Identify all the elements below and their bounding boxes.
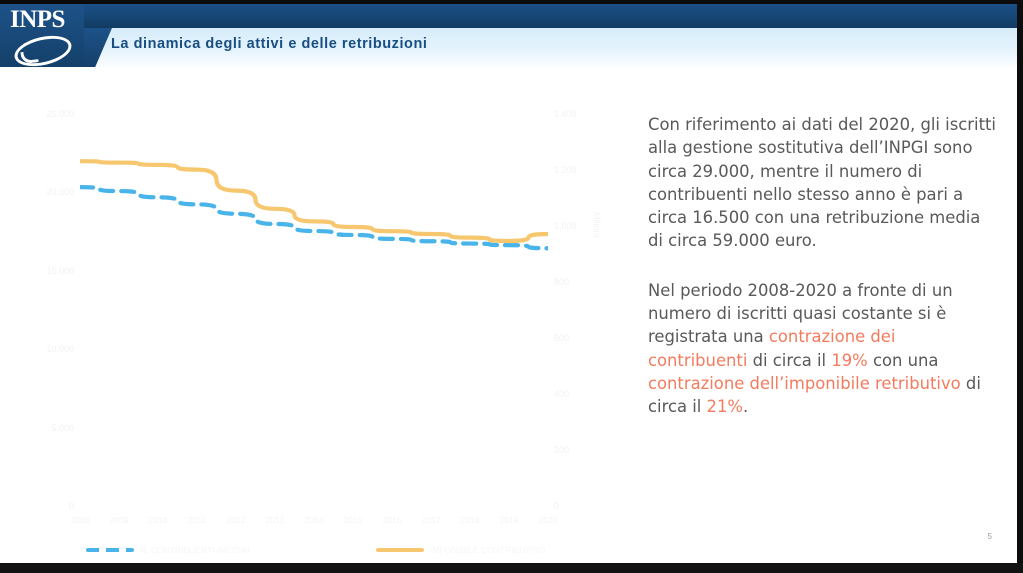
x-axis-tick: 2008 <box>71 515 90 525</box>
x-axis-tick: 2017 <box>422 515 441 525</box>
x-axis-tick: 2014 <box>305 515 324 525</box>
x-axis-tick: 2019 <box>500 515 519 525</box>
chart-plot-area <box>80 115 548 507</box>
inps-ellipse-icon <box>12 31 75 67</box>
video-letterbox-right <box>1017 0 1023 573</box>
legend-item-contribuenti: N. CONTRIBUENTI (MEDIA) <box>86 545 250 555</box>
legend-label-imponibile: IMPONIBILE CONTRIBUTIVO <box>430 545 545 555</box>
highlighted-text: contrazione dell’imponibile retributivo <box>648 374 961 393</box>
y-axis-left-tick: 10.000 <box>26 344 74 354</box>
y-axis-left-tick: 5.000 <box>26 423 74 433</box>
inps-wordmark: INPS <box>10 7 65 32</box>
y-axis-left-tick: 20.000 <box>26 187 74 197</box>
x-axis-tick: 2020 <box>539 515 558 525</box>
body-text: di circa il <box>747 351 831 370</box>
x-axis-tick: 2012 <box>227 515 246 525</box>
x-axis-tick: 2010 <box>149 515 168 525</box>
chart-container: 25.00020.00015.00010.0005.0000 1.4001.20… <box>14 97 614 537</box>
y-axis-right-tick: 1.400 <box>554 109 596 119</box>
page-title: La dinamica degli attivi e delle retribu… <box>111 36 427 52</box>
x-axis-tick: 2016 <box>383 515 402 525</box>
legend-dashed-line-icon <box>86 548 134 552</box>
y-axis-left-tick: 15.000 <box>26 266 74 276</box>
commentary-column: Con riferimento ai dati del 2020, gli is… <box>648 113 998 419</box>
chart-line-imponibile-contributivo <box>80 161 548 241</box>
header-dark-band <box>0 4 1017 28</box>
x-axis-tick: 2011 <box>188 515 206 525</box>
y-axis-right-tick: 0 <box>554 501 596 511</box>
y-axis-right-unit-label: Milioni <box>592 212 602 238</box>
highlighted-text: 21% <box>707 397 743 416</box>
y-axis-right-tick: 1.200 <box>554 165 596 175</box>
x-axis-tick: 2015 <box>344 515 363 525</box>
x-axis-tick: 2013 <box>266 515 285 525</box>
inps-logo: INPS <box>0 4 84 67</box>
legend-item-imponibile: IMPONIBILE CONTRIBUTIVO <box>376 545 545 555</box>
highlighted-text: 19% <box>831 351 867 370</box>
y-axis-right-tick: 200 <box>554 445 596 455</box>
x-axis-tick: 2018 <box>461 515 480 525</box>
slide-root: INPS La dinamica degli attivi e delle re… <box>0 0 1023 573</box>
slide-body: 25.00020.00015.00010.0005.0000 1.4001.20… <box>0 67 1017 563</box>
chart-legend: N. CONTRIBUENTI (MEDIA) IMPONIBILE CONTR… <box>80 545 570 565</box>
commentary-paragraph-1: Con riferimento ai dati del 2020, gli is… <box>648 113 998 253</box>
y-axis-right-tick: 800 <box>554 277 596 287</box>
page-number: 5 <box>988 532 992 541</box>
body-text: Con riferimento ai dati del 2020, gli is… <box>648 115 996 250</box>
video-letterbox-bottom <box>0 563 1023 573</box>
x-axis-labels: 2008200920102011201220132014201520162017… <box>80 515 548 531</box>
y-axis-right-tick: 600 <box>554 333 596 343</box>
legend-label-contribuenti: N. CONTRIBUENTI (MEDIA) <box>140 545 250 555</box>
body-text: con una <box>868 351 939 370</box>
x-axis-tick: 2009 <box>110 515 129 525</box>
legend-solid-line-icon <box>376 548 424 552</box>
chart-series-svg <box>80 115 548 507</box>
y-axis-left-tick: 0 <box>26 501 74 511</box>
y-axis-right-tick: 400 <box>554 389 596 399</box>
slide-header: INPS La dinamica degli attivi e delle re… <box>0 4 1017 67</box>
y-axis-right-tick: 1.000 <box>554 221 596 231</box>
commentary-paragraph-2: Nel periodo 2008-2020 a fronte di un num… <box>648 279 998 419</box>
y-axis-left-tick: 25.000 <box>26 109 74 119</box>
body-text: . <box>743 397 748 416</box>
